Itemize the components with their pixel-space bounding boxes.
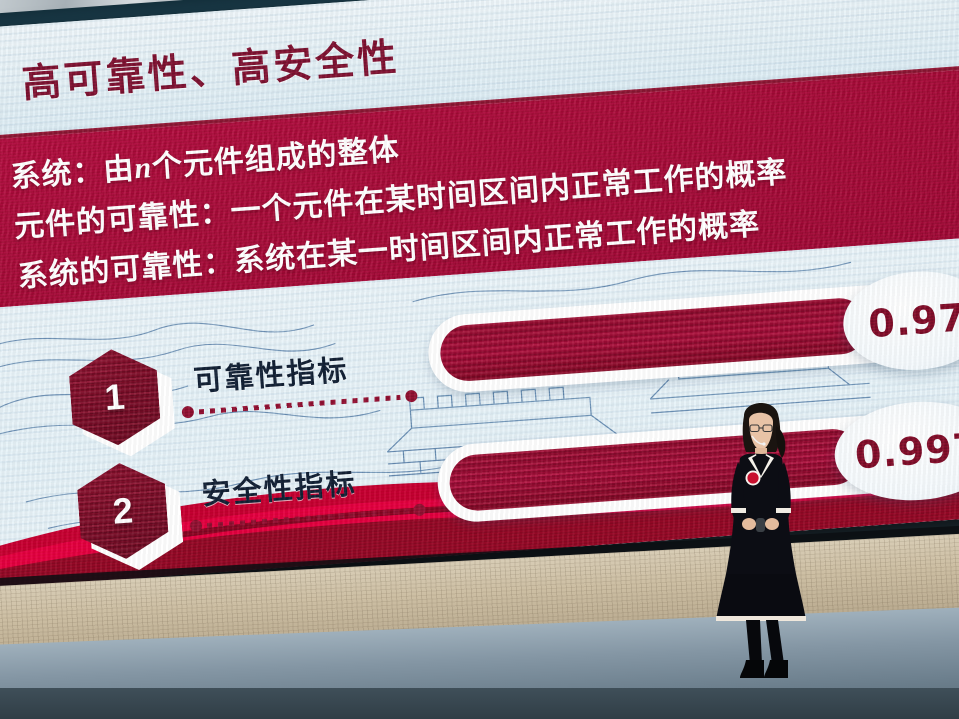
- presenter-hand-right: [765, 518, 779, 530]
- dot-cap-right-1: [405, 390, 418, 403]
- presenter-cuff-left: [731, 508, 746, 513]
- presenter-ponytail: [776, 426, 785, 458]
- hexagon-number-2: 2: [111, 489, 134, 532]
- statement-system-prefix: 系统：: [10, 155, 105, 195]
- metric-value-2: 0.997: [854, 425, 959, 478]
- variable-n: n: [133, 151, 153, 185]
- metric-hexagon-2: 2: [76, 459, 179, 570]
- metric-value-1: 0.97: [867, 295, 959, 346]
- dot-cap-left-2: [190, 519, 203, 532]
- presenter-hem-trim: [716, 616, 806, 621]
- presenter-boot-right: [764, 660, 788, 678]
- clicker-device: [756, 518, 765, 532]
- presenter-leg-left: [746, 620, 762, 664]
- metric-hexagon-1: 1: [67, 346, 170, 457]
- dot-cap-left-1: [182, 406, 195, 419]
- stage-floor-front: [0, 688, 959, 719]
- presenter-leg-right: [766, 620, 784, 664]
- presenter-boot-left: [740, 660, 764, 678]
- dot-cap-right-2: [413, 503, 426, 516]
- presenter-skirt: [716, 574, 806, 620]
- presenter: [700, 392, 820, 682]
- statement-system-body-a: 由: [102, 152, 135, 187]
- stage-photo: 高可靠性、高安全性 系统：由n个元件组成的整体 元件的可靠性：一个元件在某时间区…: [0, 0, 959, 719]
- presenter-badge: [747, 472, 758, 483]
- presenter-hand-left: [742, 518, 756, 530]
- hexagon-number-1: 1: [103, 376, 126, 419]
- presenter-cuff-right: [776, 508, 791, 513]
